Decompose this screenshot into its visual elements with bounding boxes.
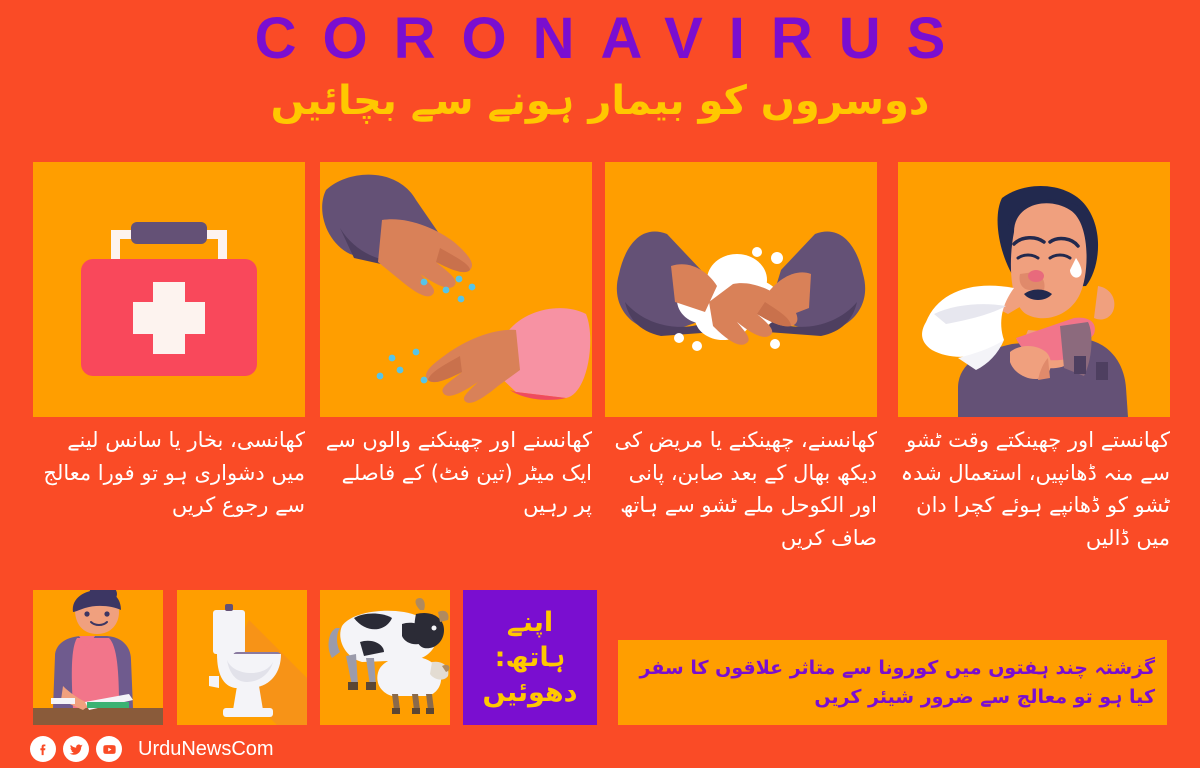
facebook-icon[interactable]	[30, 736, 56, 762]
footer: UrduNewsCom	[30, 736, 274, 762]
panel-first-aid	[33, 162, 305, 417]
caption-keep-distance: کھانسنے اور چھینکنے والوں سے ایک میٹر (ت…	[320, 424, 592, 522]
page-title: CORONAVIRUS	[0, 10, 1200, 68]
wash-hands-callout: اپنے ہاتھ: دھوئیں	[463, 590, 597, 725]
youtube-icon[interactable]	[96, 736, 122, 762]
panel-keep-distance	[320, 162, 592, 417]
infographic-canvas: CORONAVIRUS دوسروں کو بیمار ہونے سے بچائ…	[0, 0, 1200, 768]
page-subtitle: دوسروں کو بیمار ہونے سے بچائیں	[0, 76, 1200, 126]
hand-washing-soap-icon	[605, 162, 877, 417]
cow-sheep-icon	[320, 590, 450, 725]
small-panel-toilet	[177, 590, 307, 725]
distance-hands-icon	[320, 162, 592, 417]
travel-advisory-text: گزشتہ چند ہفتوں میں کورونا سے متاثر علاق…	[630, 654, 1155, 711]
first-aid-kit-icon	[33, 162, 305, 417]
small-panel-livestock	[320, 590, 450, 725]
sneezing-person-tissue-icon	[898, 162, 1170, 417]
toilet-icon	[177, 590, 307, 725]
twitter-icon[interactable]	[63, 736, 89, 762]
caption-first-aid: کھانسی، بخار یا سانس لینے میں دشواری ہو …	[33, 424, 305, 522]
brand-name: UrduNewsCom	[138, 738, 274, 761]
wash-hands-text: اپنے ہاتھ: دھوئیں	[463, 605, 597, 710]
panel-wash-hands	[605, 162, 877, 417]
travel-advisory-banner: گزشتہ چند ہفتوں میں کورونا سے متاثر علاق…	[618, 640, 1167, 725]
panel-sneeze-tissue	[898, 162, 1170, 417]
caption-sneeze-tissue: کھانستے اور چھینکتے وقت ٹشو سے منہ ڈھانپ…	[898, 424, 1170, 554]
small-panel-cooking	[33, 590, 163, 725]
woman-cooking-icon	[33, 590, 163, 725]
caption-wash-hands: کھانسنے، چھینکنے یا مریض کی دیکھ بھال کے…	[605, 424, 877, 554]
